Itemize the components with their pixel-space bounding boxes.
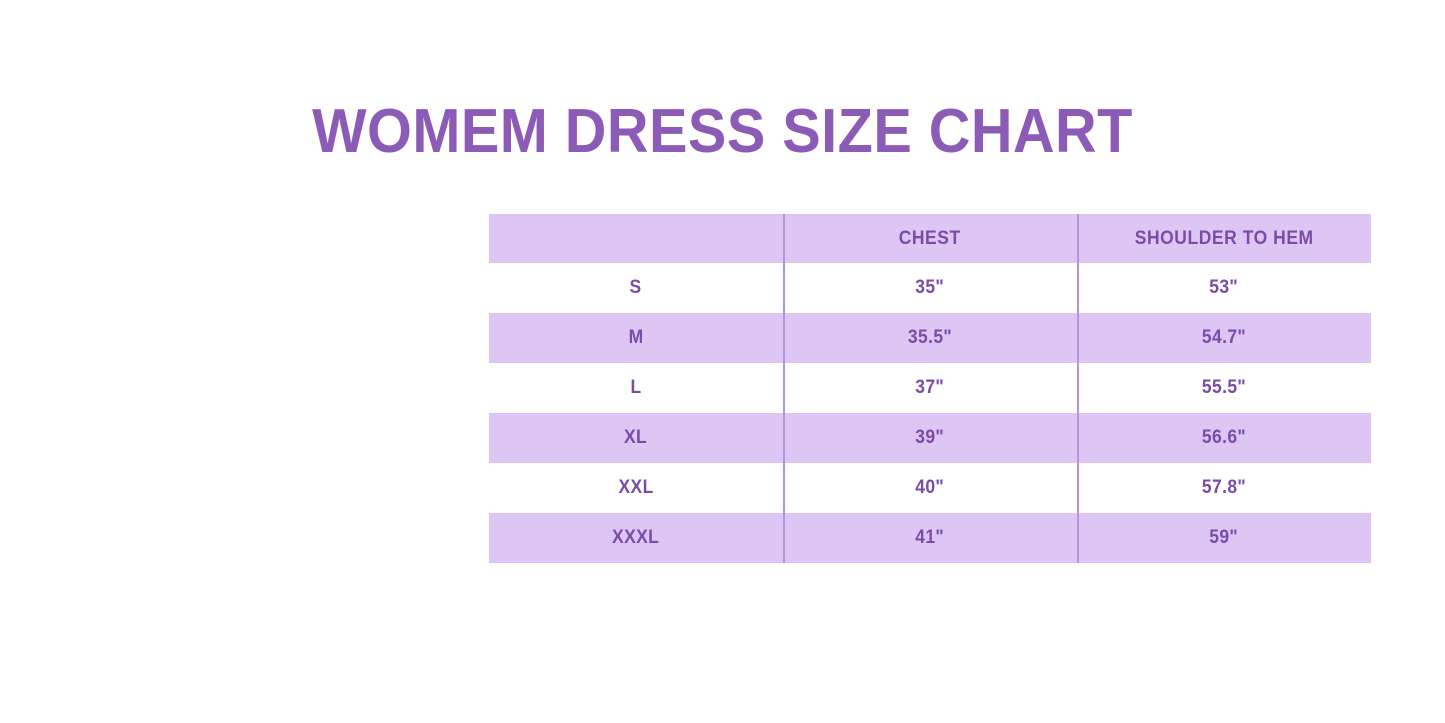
cell-size: XXL <box>489 463 783 513</box>
cell-size: L <box>489 363 783 413</box>
table-row: XXXL 41" 59" <box>489 513 1371 563</box>
cell-size-label: XL <box>624 427 647 449</box>
table-row: XXL 40" 57.8" <box>489 463 1371 513</box>
table-header-row: CHEST SHOULDER TO HEM <box>489 214 1371 263</box>
size-chart-table: CHEST SHOULDER TO HEM S 35" 53" <box>489 214 1371 563</box>
cell-chest: 35.5" <box>783 313 1077 363</box>
cell-chest: 40" <box>783 463 1077 513</box>
cell-shoulder-to-hem: 53" <box>1077 263 1371 313</box>
cell-shoulder-to-hem-value: 59" <box>1210 527 1239 549</box>
size-chart-page: WOMEM DRESS SIZE CHART CHEST SHOULDER TO… <box>0 0 1445 723</box>
cell-shoulder-to-hem: 54.7" <box>1077 313 1371 363</box>
column-header-chest: CHEST <box>783 214 1077 263</box>
cell-chest: 37" <box>783 363 1077 413</box>
cell-chest: 39" <box>783 413 1077 463</box>
cell-shoulder-to-hem-value: 55.5" <box>1202 377 1246 399</box>
cell-shoulder-to-hem: 57.8" <box>1077 463 1371 513</box>
column-header-shoulder-to-hem-label: SHOULDER TO HEM <box>1135 228 1314 250</box>
column-header-chest-label: CHEST <box>899 228 961 250</box>
cell-shoulder-to-hem-value: 53" <box>1210 277 1239 299</box>
cell-size-label: XXL <box>618 477 653 499</box>
cell-size-label: M <box>629 327 644 349</box>
cell-chest-value: 37" <box>916 377 945 399</box>
cell-chest-value: 40" <box>916 477 945 499</box>
size-table-container: CHEST SHOULDER TO HEM S 35" 53" <box>489 214 1371 563</box>
cell-shoulder-to-hem: 55.5" <box>1077 363 1371 413</box>
table-body: S 35" 53" M 35.5" <box>489 263 1371 563</box>
cell-chest-value: 39" <box>916 427 945 449</box>
cell-chest: 35" <box>783 263 1077 313</box>
cell-size-label: S <box>630 277 642 299</box>
cell-shoulder-to-hem: 56.6" <box>1077 413 1371 463</box>
cell-size: XL <box>489 413 783 463</box>
table-row: M 35.5" 54.7" <box>489 313 1371 363</box>
cell-chest-value: 35.5" <box>908 327 952 349</box>
table-row: XL 39" 56.6" <box>489 413 1371 463</box>
cell-size: S <box>489 263 783 313</box>
table-header: CHEST SHOULDER TO HEM <box>489 214 1371 263</box>
cell-size: XXXL <box>489 513 783 563</box>
cell-shoulder-to-hem-value: 57.8" <box>1202 477 1246 499</box>
cell-shoulder-to-hem-value: 54.7" <box>1202 327 1246 349</box>
column-header-size <box>489 214 783 263</box>
cell-size-label: XXXL <box>612 527 659 549</box>
page-title: WOMEM DRESS SIZE CHART <box>51 97 1395 167</box>
cell-size-label: L <box>630 377 641 399</box>
cell-chest-value: 35" <box>916 277 945 299</box>
cell-size: M <box>489 313 783 363</box>
column-header-shoulder-to-hem: SHOULDER TO HEM <box>1077 214 1371 263</box>
cell-chest-value: 41" <box>916 527 945 549</box>
table-row: L 37" 55.5" <box>489 363 1371 413</box>
cell-shoulder-to-hem: 59" <box>1077 513 1371 563</box>
cell-shoulder-to-hem-value: 56.6" <box>1202 427 1246 449</box>
cell-chest: 41" <box>783 513 1077 563</box>
table-row: S 35" 53" <box>489 263 1371 313</box>
